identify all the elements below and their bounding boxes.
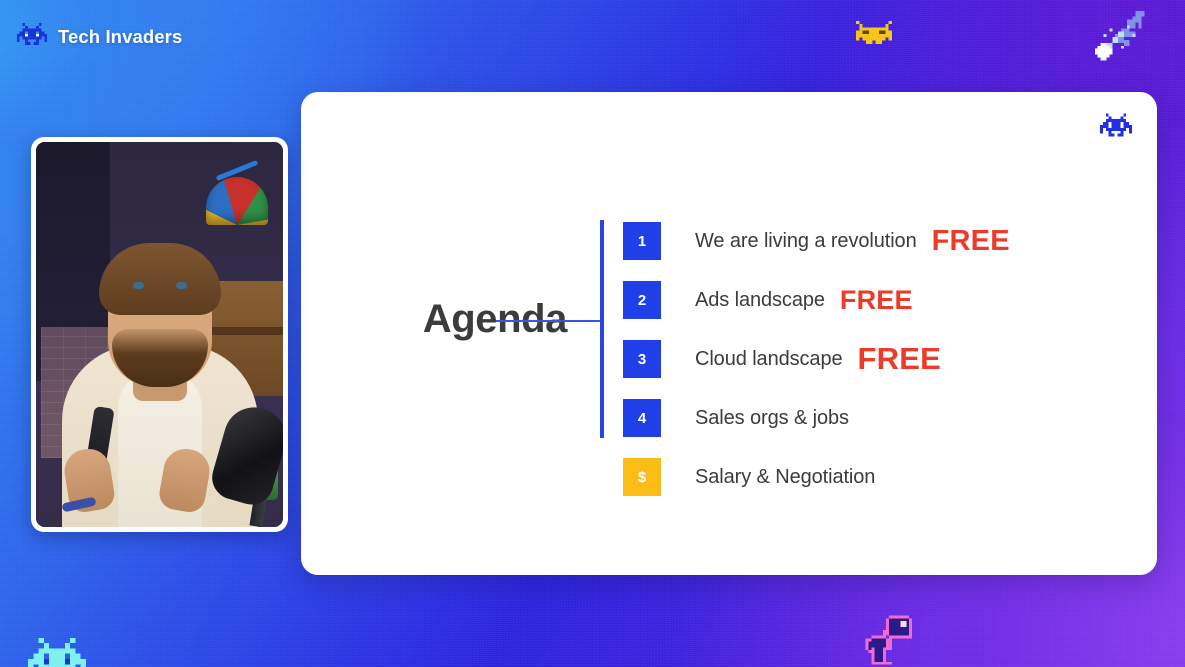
agenda-item-label: We are living a revolution [695,230,917,253]
video-frame [36,142,283,527]
presenter-eye-right [176,282,187,289]
agenda-item-label: Ads landscape [695,289,825,312]
presenter-hair [99,243,221,315]
agenda-item-free-tag: FREE [840,285,913,316]
space-invader-icon [17,21,47,52]
presenter-video-feed[interactable] [31,137,288,532]
card-space-invader-icon [1100,111,1132,144]
agenda-item-badge: 4 [623,399,661,437]
agenda-item-free-tag: FREE [858,341,941,377]
agenda-item-badge: 2 [623,281,661,319]
bottom-left-invader-icon [28,637,86,667]
agenda-item[interactable]: 2Ads landscapeFREE [623,281,1010,319]
agenda-item-label: Salary & Negotiation [695,466,875,489]
agenda-item-badge: 3 [623,340,661,378]
agenda-item-label: Cloud landscape [695,348,843,371]
brand-name: Tech Invaders [58,26,182,48]
agenda-item[interactable]: 4Sales orgs & jobs [623,399,1010,437]
brand-lockup: Tech Invaders [17,21,182,52]
agenda-item-badge: $ [623,458,661,496]
agenda-item-badge: 1 [623,222,661,260]
top-invader-icon [856,20,892,53]
agenda-item-free-tag: FREE [932,225,1010,258]
agenda-item-label: Sales orgs & jobs [695,407,849,430]
agenda-connector-line [496,320,601,322]
slide-card: Agenda 1We are living a revolutionFREE2A… [301,92,1157,575]
dinosaur-icon [857,612,915,667]
agenda-item[interactable]: 3Cloud landscapeFREE [623,340,1010,378]
comet-icon [1088,8,1154,77]
agenda-list: 1We are living a revolutionFREE2Ads land… [623,222,1010,496]
presenter-eye-left [133,282,144,289]
agenda-item[interactable]: 1We are living a revolutionFREE [623,222,1010,260]
agenda-vertical-rule [600,220,604,438]
agenda-item[interactable]: $Salary & Negotiation [623,458,1010,496]
